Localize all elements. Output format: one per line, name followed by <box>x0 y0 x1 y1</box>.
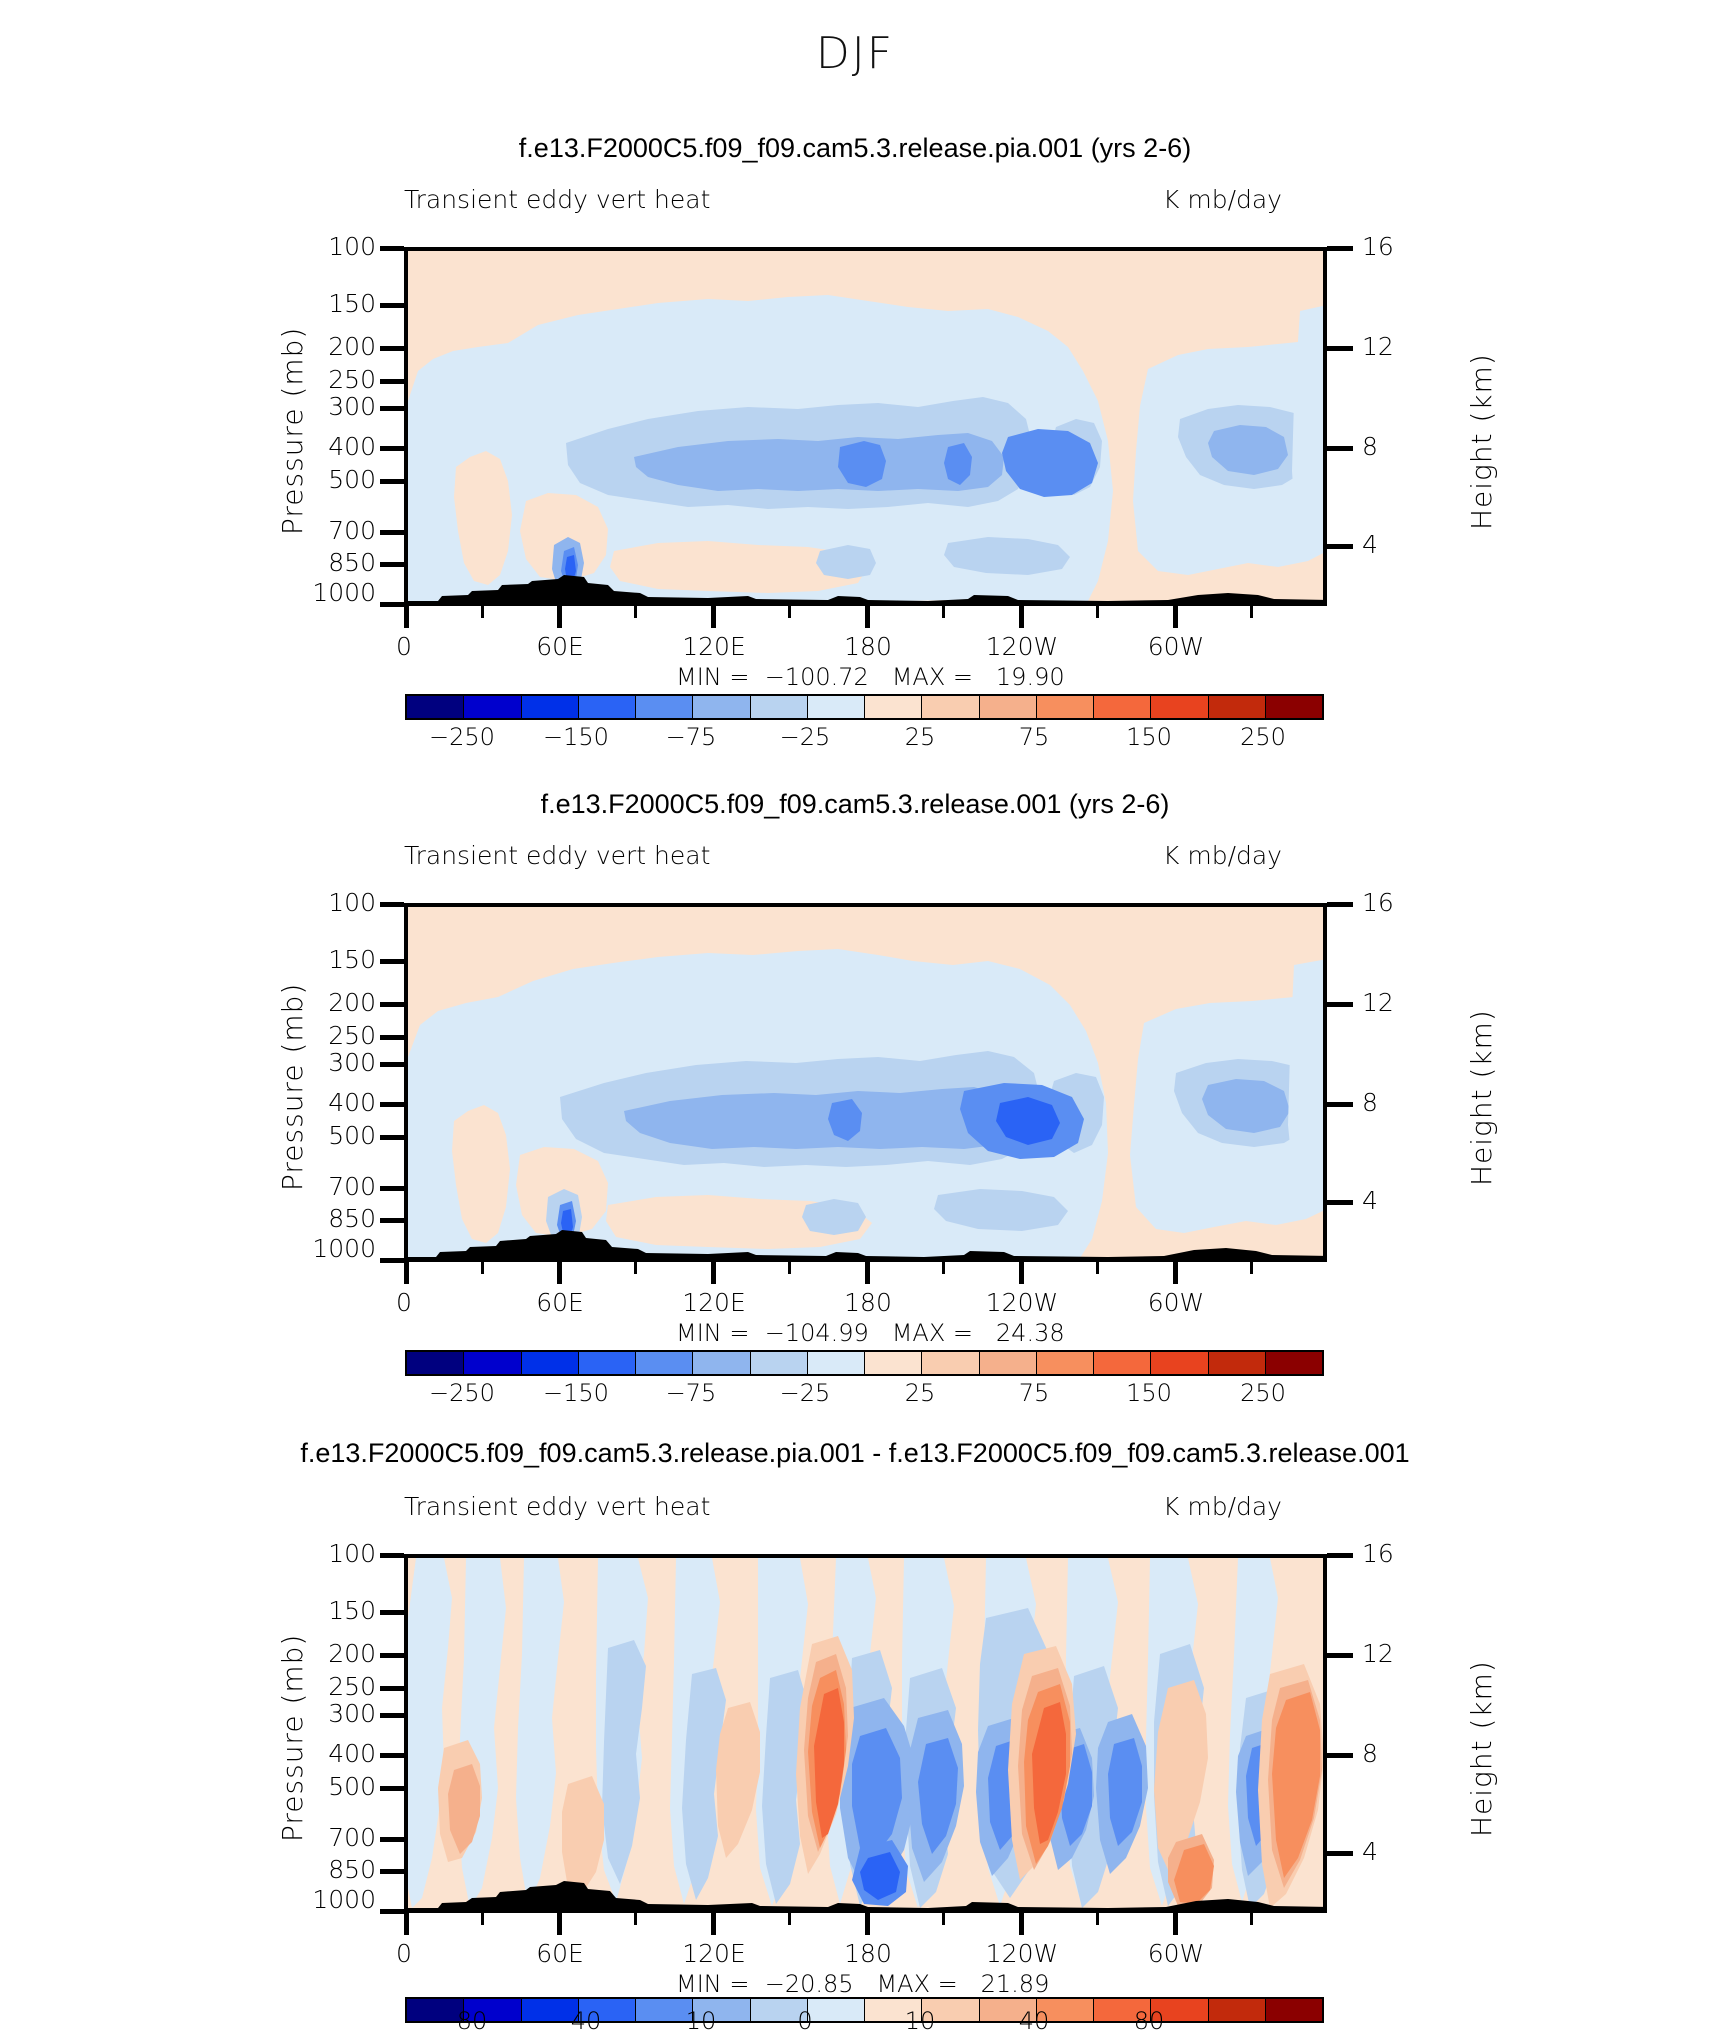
xtickmark-minor-30E <box>481 1913 484 1925</box>
cbar-swatch-15 <box>1266 1352 1322 1374</box>
ytick-250: 250 <box>286 365 376 394</box>
ytickmark-500 <box>380 479 404 484</box>
ytick-1000: 1000 <box>276 1885 376 1914</box>
ytick-150: 150 <box>286 1596 376 1625</box>
panel-top-minmax: MIN = −100.72 MAX = 19.90 <box>676 663 1065 691</box>
panel-middle-minmax: MIN = −104.99 MAX = 24.38 <box>676 1319 1065 1347</box>
cbar-swatch-11 <box>1037 696 1094 718</box>
cbar-swatch-15 <box>1266 1999 1322 2021</box>
ytickmark-200 <box>380 1653 404 1658</box>
ytick-500: 500 <box>286 465 376 494</box>
ytickmark-150 <box>380 303 404 308</box>
panel-top-plot <box>404 247 1327 606</box>
ytickmark-250 <box>380 1035 404 1040</box>
cbar-swatch-14 <box>1209 696 1266 718</box>
cbar-label-3: 0 <box>747 2007 863 2035</box>
panel-middle-colorbar <box>405 1350 1324 1376</box>
cbar-label-0: −250 <box>404 723 520 751</box>
ytick-850: 850 <box>286 548 376 577</box>
cbar-label-0: −250 <box>404 1379 520 1407</box>
ytick-h8: 8 <box>1362 1739 1442 1768</box>
ytick-200: 200 <box>286 1639 376 1668</box>
ytickmark-250 <box>380 379 404 384</box>
xtickmark-minor-150E <box>788 606 791 618</box>
cbar-swatch-6 <box>751 1352 808 1374</box>
ytick-h4: 4 <box>1362 1186 1442 1215</box>
cbar-label-1: −150 <box>518 723 634 751</box>
ytick-h16: 16 <box>1362 888 1442 917</box>
cbar-swatch-14 <box>1209 1999 1266 2021</box>
cbar-swatch-12 <box>1094 1352 1151 1374</box>
xtickmark-minor-90W <box>1096 606 1099 618</box>
ytickmark-1000 <box>380 602 404 607</box>
cbar-swatch-11 <box>1037 1352 1094 1374</box>
ytickmark-150 <box>380 959 404 964</box>
cbar-swatch-10 <box>980 696 1037 718</box>
ytick-850: 850 <box>286 1855 376 1884</box>
xtick-120E: 120E <box>668 1288 760 1317</box>
ytickmark-500 <box>380 1786 404 1791</box>
ytickmark-700 <box>380 530 404 535</box>
panel-bottom-variable-label: Transient eddy vert heat <box>404 1492 710 1521</box>
panel-top-title: f.e13.F2000C5.f09_f09.cam5.3.release.pia… <box>0 133 1710 164</box>
ytickmark-400 <box>380 1753 404 1758</box>
ytickmark-h8 <box>1327 1102 1353 1107</box>
cbar-label-2: −75 <box>633 723 749 751</box>
ytickmark-700 <box>380 1186 404 1191</box>
xtickmark-120W <box>1019 1913 1024 1935</box>
cbar-swatch-15 <box>1266 696 1322 718</box>
ytickmark-h16 <box>1327 1553 1353 1558</box>
xtick-0: 0 <box>364 1288 444 1317</box>
cbar-swatch-13 <box>1151 696 1208 718</box>
ytick-500: 500 <box>286 1121 376 1150</box>
xtickmark-minor-90E <box>634 1262 637 1274</box>
cbar-label-5: 40 <box>976 2007 1092 2035</box>
cbar-label-3: −25 <box>747 1379 863 1407</box>
xtickmark-minor-30E <box>481 1262 484 1274</box>
xtick-120W: 120W <box>976 1939 1068 1968</box>
xtickmark-minor-30W <box>1250 1913 1253 1925</box>
xtickmark-0 <box>404 1262 409 1284</box>
ytickmark-100 <box>380 902 404 907</box>
ytick-400: 400 <box>286 1088 376 1117</box>
ytick-150: 150 <box>286 945 376 974</box>
cbar-swatch-2 <box>522 696 579 718</box>
panel-middle-contour-field <box>408 907 1327 1262</box>
xtick-0: 0 <box>364 632 444 661</box>
ytickmark-1000 <box>380 1258 404 1263</box>
cbar-label-5: 75 <box>976 723 1092 751</box>
xtick-60E: 60E <box>517 1939 603 1968</box>
ytick-200: 200 <box>286 332 376 361</box>
xtick-60W: 60W <box>1133 1939 1219 1968</box>
xtickmark-minor-150W <box>942 1913 945 1925</box>
cbar-swatch-0 <box>407 1352 464 1374</box>
xtickmark-60E <box>557 1262 562 1284</box>
ytickmark-h4 <box>1327 1200 1353 1205</box>
xtick-180: 180 <box>822 1939 914 1968</box>
cbar-swatch-9 <box>922 1352 979 1374</box>
xtickmark-180 <box>865 1262 870 1284</box>
ytick-850: 850 <box>286 1204 376 1233</box>
cbar-swatch-7 <box>808 1352 865 1374</box>
xtickmark-120W <box>1019 1262 1024 1284</box>
cbar-swatch-1 <box>464 696 521 718</box>
ytick-h4: 4 <box>1362 1837 1442 1866</box>
cbar-swatch-8 <box>865 1352 922 1374</box>
panel-top-ylabel-right: Height (km) <box>1465 353 1498 530</box>
xtick-120W: 120W <box>976 1288 1068 1317</box>
ytick-500: 500 <box>286 1772 376 1801</box>
xtickmark-minor-90W <box>1096 1913 1099 1925</box>
cbar-swatch-6 <box>751 696 808 718</box>
ytick-700: 700 <box>286 516 376 545</box>
xtickmark-minor-90E <box>634 1913 637 1925</box>
cbar-swatch-12 <box>1094 696 1151 718</box>
cbar-label-2: −75 <box>633 1379 749 1407</box>
xtickmark-minor-150E <box>788 1262 791 1274</box>
ytickmark-300 <box>380 1062 404 1067</box>
cbar-label-7: 250 <box>1205 1379 1321 1407</box>
xtickmark-minor-150E <box>788 1913 791 1925</box>
panel-bottom-ylabel-right: Height (km) <box>1465 1660 1498 1837</box>
ytickmark-h8 <box>1327 446 1353 451</box>
ytick-h4: 4 <box>1362 530 1442 559</box>
xtick-60E: 60E <box>517 1288 603 1317</box>
xtickmark-60W <box>1173 1262 1178 1284</box>
ytick-h12: 12 <box>1362 988 1442 1017</box>
xtickmark-minor-90W <box>1096 1262 1099 1274</box>
ytickmark-300 <box>380 406 404 411</box>
xtickmark-60W <box>1173 606 1178 628</box>
cbar-swatch-9 <box>922 696 979 718</box>
cbar-label-1: −150 <box>518 1379 634 1407</box>
ytick-1000: 1000 <box>276 1234 376 1263</box>
ytickmark-h16 <box>1327 246 1353 251</box>
ytickmark-200 <box>380 346 404 351</box>
ytick-150: 150 <box>286 289 376 318</box>
xtickmark-60E <box>557 1913 562 1935</box>
ytick-1000: 1000 <box>276 578 376 607</box>
cbar-swatch-8 <box>865 696 922 718</box>
ytickmark-100 <box>380 1553 404 1558</box>
cbar-swatch-5 <box>693 696 750 718</box>
ytick-100: 100 <box>286 888 376 917</box>
panel-bottom-plot <box>404 1554 1327 1913</box>
ytick-100: 100 <box>286 1539 376 1568</box>
panel-top-variable-label: Transient eddy vert heat <box>404 185 710 214</box>
xtick-180: 180 <box>822 632 914 661</box>
xtickmark-120E <box>711 1262 716 1284</box>
cbar-label-6: 150 <box>1091 723 1207 751</box>
cbar-label-6: 80 <box>1091 2007 1207 2035</box>
xtickmark-0 <box>404 1913 409 1935</box>
cbar-label-5: 75 <box>976 1379 1092 1407</box>
ytickmark-100 <box>380 246 404 251</box>
ytickmark-250 <box>380 1686 404 1691</box>
xtick-60W: 60W <box>1133 1288 1219 1317</box>
cbar-label-2: −10 <box>633 2007 749 2035</box>
xtick-120E: 120E <box>668 632 760 661</box>
xtick-180: 180 <box>822 1288 914 1317</box>
panel-bottom-contour-field <box>408 1558 1327 1913</box>
panel-middle-ylabel-right: Height (km) <box>1465 1009 1498 1186</box>
cbar-swatch-4 <box>636 1352 693 1374</box>
xtickmark-minor-150W <box>942 1262 945 1274</box>
panel-middle-title: f.e13.F2000C5.f09_f09.cam5.3.release.001… <box>0 789 1710 820</box>
ytickmark-700 <box>380 1837 404 1842</box>
cbar-swatch-5 <box>693 1352 750 1374</box>
xtickmark-minor-30W <box>1250 606 1253 618</box>
panel-bottom-title: f.e13.F2000C5.f09_f09.cam5.3.release.pia… <box>0 1438 1710 1469</box>
xtickmark-60W <box>1173 1913 1178 1935</box>
cbar-swatch-7 <box>808 696 865 718</box>
ytickmark-h8 <box>1327 1753 1353 1758</box>
cbar-label-3: −25 <box>747 723 863 751</box>
xtickmark-0 <box>404 606 409 628</box>
panel-bottom-units-label: K mb/day <box>1163 1492 1282 1521</box>
xtickmark-120E <box>711 1913 716 1935</box>
cbar-swatch-4 <box>636 696 693 718</box>
ytick-250: 250 <box>286 1672 376 1701</box>
xtickmark-120W <box>1019 606 1024 628</box>
ytick-h8: 8 <box>1362 1088 1442 1117</box>
xtick-60W: 60W <box>1133 632 1219 661</box>
cbar-swatch-10 <box>980 1352 1037 1374</box>
xtick-120W: 120W <box>976 632 1068 661</box>
cbar-swatch-13 <box>1151 1352 1208 1374</box>
cbar-label-7: 250 <box>1205 723 1321 751</box>
ytickmark-200 <box>380 1002 404 1007</box>
ytickmark-150 <box>380 1610 404 1615</box>
ytickmark-300 <box>380 1713 404 1718</box>
ytickmark-850 <box>380 562 404 567</box>
cbar-label-1: −40 <box>518 2007 634 2035</box>
xtickmark-minor-30E <box>481 606 484 618</box>
xtickmark-120E <box>711 606 716 628</box>
ytick-h16: 16 <box>1362 1539 1442 1568</box>
panel-middle-plot <box>404 903 1327 1262</box>
ytickmark-400 <box>380 446 404 451</box>
cbar-label-4: 25 <box>862 1379 978 1407</box>
cbar-swatch-3 <box>579 696 636 718</box>
panel-top-units-label: K mb/day <box>1163 185 1282 214</box>
ytick-h16: 16 <box>1362 232 1442 261</box>
ytick-h12: 12 <box>1362 332 1442 361</box>
panel-middle-variable-label: Transient eddy vert heat <box>404 841 710 870</box>
panel-middle-units-label: K mb/day <box>1163 841 1282 870</box>
cbar-swatch-1 <box>464 1352 521 1374</box>
cbar-label-0: −80 <box>404 2007 520 2035</box>
ytick-700: 700 <box>286 1823 376 1852</box>
cbar-swatch-14 <box>1209 1352 1266 1374</box>
ytick-400: 400 <box>286 1739 376 1768</box>
cbar-swatch-0 <box>407 696 464 718</box>
xtickmark-minor-30W <box>1250 1262 1253 1274</box>
xtick-0: 0 <box>364 1939 444 1968</box>
ytick-300: 300 <box>286 392 376 421</box>
ytickmark-h4 <box>1327 1851 1353 1856</box>
panel-top-contour-field <box>408 251 1327 606</box>
xtickmark-minor-150W <box>942 606 945 618</box>
ytickmark-h12 <box>1327 346 1353 351</box>
ytick-h8: 8 <box>1362 432 1442 461</box>
ytickmark-850 <box>380 1218 404 1223</box>
xtick-120E: 120E <box>668 1939 760 1968</box>
cbar-swatch-2 <box>522 1352 579 1374</box>
ytickmark-h4 <box>1327 544 1353 549</box>
ytick-h12: 12 <box>1362 1639 1442 1668</box>
ytick-400: 400 <box>286 432 376 461</box>
cbar-label-4: 25 <box>862 723 978 751</box>
ytick-250: 250 <box>286 1021 376 1050</box>
ytick-300: 300 <box>286 1048 376 1077</box>
xtickmark-60E <box>557 606 562 628</box>
ytickmark-h12 <box>1327 1653 1353 1658</box>
cbar-label-4: 10 <box>862 2007 978 2035</box>
xtickmark-minor-90E <box>634 606 637 618</box>
ytickmark-500 <box>380 1135 404 1140</box>
cbar-label-6: 150 <box>1091 1379 1207 1407</box>
ytickmark-850 <box>380 1869 404 1874</box>
panel-bottom-minmax: MIN = −20.85 MAX = 21.89 <box>676 1970 1049 1998</box>
xtickmark-180 <box>865 1913 870 1935</box>
ytick-200: 200 <box>286 988 376 1017</box>
ytickmark-400 <box>380 1102 404 1107</box>
xtickmark-180 <box>865 606 870 628</box>
ytick-100: 100 <box>286 232 376 261</box>
panel-top-colorbar <box>405 694 1324 720</box>
ytick-700: 700 <box>286 1172 376 1201</box>
ytick-300: 300 <box>286 1699 376 1728</box>
ytickmark-h12 <box>1327 1002 1353 1007</box>
ytickmark-1000 <box>380 1909 404 1914</box>
figure-suptitle: DJF <box>0 28 1710 79</box>
xtick-60E: 60E <box>517 632 603 661</box>
ytickmark-h16 <box>1327 902 1353 907</box>
cbar-swatch-3 <box>579 1352 636 1374</box>
